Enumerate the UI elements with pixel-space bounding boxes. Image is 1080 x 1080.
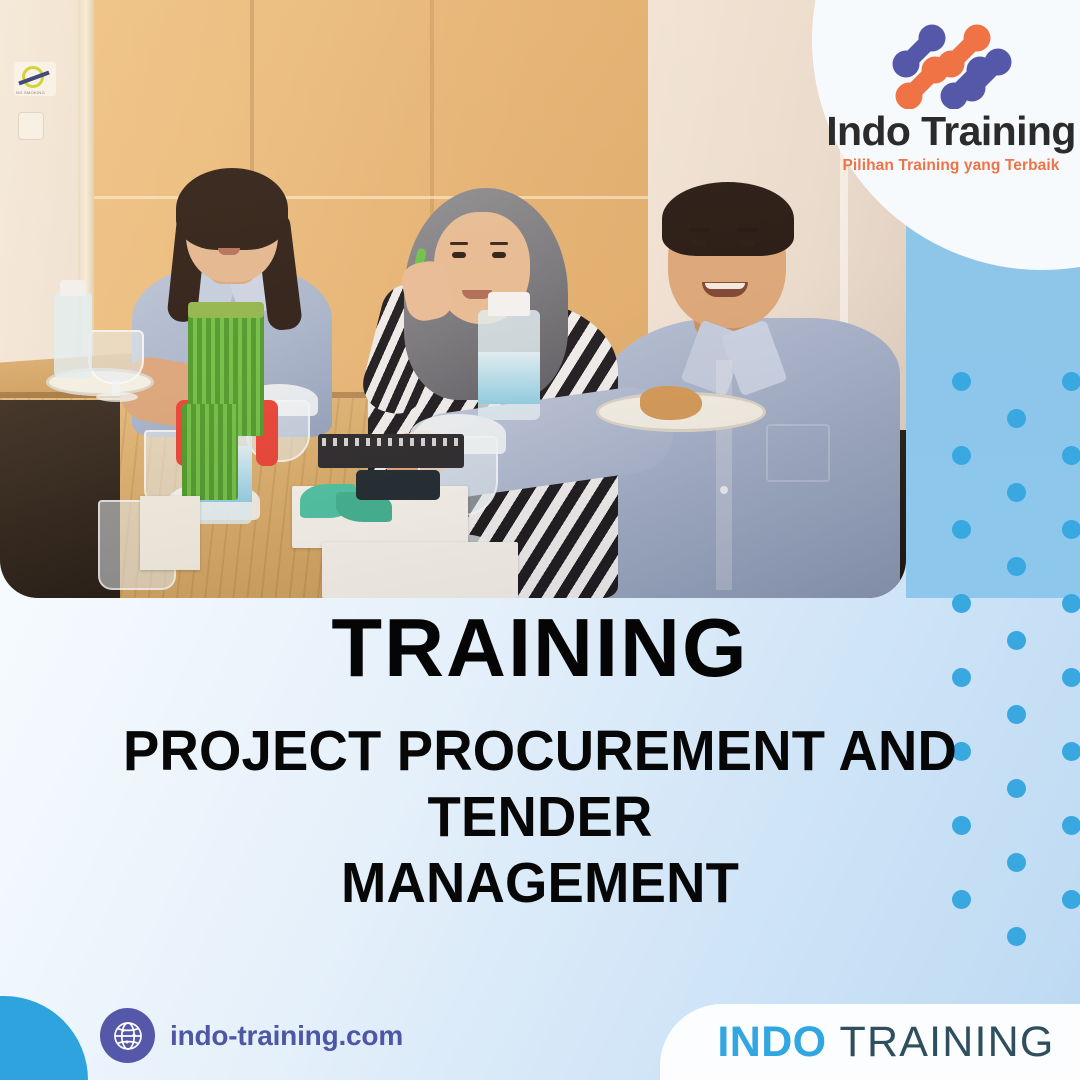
decorative-dot <box>1062 742 1080 761</box>
decorative-dot <box>1062 446 1080 465</box>
logo-wordmark: Indo Training <box>826 111 1076 152</box>
decorative-dot <box>1007 483 1026 502</box>
hero-photo: NO SMOKING <box>0 0 906 598</box>
decorative-dot <box>952 520 971 539</box>
page-subtitle-line-1: PROJECT PROCUREMENT AND TENDER <box>24 718 1055 850</box>
page-title: TRAINING <box>0 606 1080 689</box>
green-plant-top <box>188 302 264 318</box>
pastry <box>640 386 702 420</box>
person-three-shirt-button <box>720 486 728 494</box>
hero-photo-illustration: NO SMOKING <box>0 0 906 598</box>
bottle-cap <box>60 280 86 296</box>
notebook-spiral <box>322 438 460 446</box>
person-three-teeth <box>705 283 745 289</box>
bottle-label <box>478 352 540 404</box>
decorative-dot <box>952 446 971 465</box>
person-three-eye <box>740 240 755 246</box>
page-subtitle: PROJECT PROCUREMENT AND TENDER MANAGEMEN… <box>24 718 1055 916</box>
bottle-cap <box>488 292 530 316</box>
page-subtitle-line-2: MANAGEMENT <box>24 850 1055 916</box>
decorative-dot <box>1007 409 1026 428</box>
light-switch <box>18 112 44 140</box>
person-two-eyebrow <box>490 242 508 245</box>
person-one-eye <box>206 216 218 221</box>
person-three-eye <box>692 240 707 246</box>
person-two-eyebrow <box>450 242 468 245</box>
no-smoking-sign-icon: NO SMOKING <box>14 62 56 96</box>
person-one-mouth <box>218 248 240 255</box>
decorative-dot <box>1007 927 1026 946</box>
decorative-dot <box>1062 816 1080 835</box>
website-url-text: indo-training.com <box>170 1020 403 1052</box>
poster-canvas: NO SMOKING <box>0 0 1080 1080</box>
goblet-foot <box>96 392 138 402</box>
person-two-eye <box>452 252 466 258</box>
decorative-dot <box>1007 557 1026 576</box>
decorative-dot <box>952 372 971 391</box>
decorative-dot <box>1062 520 1080 539</box>
person-one-hair-top <box>176 168 288 250</box>
indo-training-node-logo-icon <box>876 14 1026 109</box>
person-one-eye <box>240 216 252 221</box>
goblet <box>88 330 144 384</box>
green-plant-lower <box>182 404 238 500</box>
person-three-eyebrow <box>737 228 758 232</box>
water-bottle <box>54 292 92 378</box>
logo-tagline: Pilihan Training yang Terbaik <box>842 157 1059 175</box>
person-three-shirt-pocket <box>766 424 830 482</box>
footer-brand-indo: INDO <box>717 1018 826 1067</box>
decorative-dot <box>1062 890 1080 909</box>
website-link[interactable]: indo-training.com <box>100 1008 403 1063</box>
decorative-dot <box>1062 372 1080 391</box>
table-tent-card <box>140 496 200 570</box>
person-three-eyebrow <box>689 228 710 232</box>
footer-brand-panel: INDO TRAINING <box>660 1004 1080 1080</box>
mobile-phone <box>356 470 440 500</box>
brand-logo: Indo Training Pilihan Training yang Terb… <box>820 14 1080 168</box>
paper-sheet <box>322 542 518 598</box>
person-three-hair <box>662 182 794 256</box>
person-two-eye <box>492 252 506 258</box>
footer-accent-shape <box>0 996 88 1080</box>
footer-brand-training: TRAINING <box>840 1018 1055 1067</box>
globe-icon <box>100 1008 155 1063</box>
